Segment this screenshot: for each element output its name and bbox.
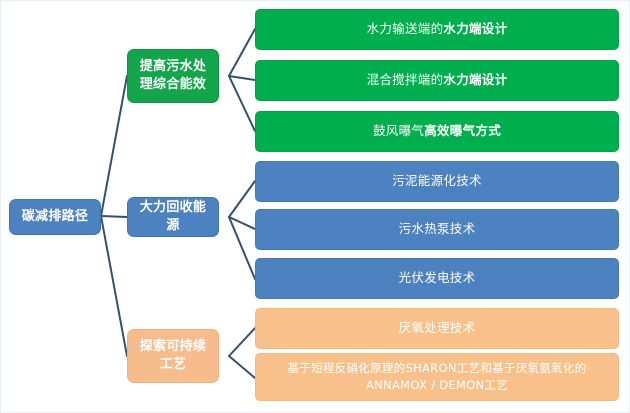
leaf-node-1-1[interactable]: 水力输送端的水力端设计 — [255, 9, 619, 50]
branch-node-3-label: 探索可持续工艺 — [134, 338, 212, 373]
edge-root-to-branch-2 — [101, 216, 127, 217]
leaf-node-3-1[interactable]: 厌氧处理技术 — [255, 308, 619, 349]
leaf-node-2-1[interactable]: 污泥能源化技术 — [255, 161, 619, 202]
leaf-node-2-1-label: 污泥能源化技术 — [262, 173, 612, 190]
edge-branch-1-to-leaf-1-1 — [229, 29, 255, 76]
branch-node-2[interactable]: 大力回收能源 — [127, 197, 219, 237]
edge-branch-2-to-leaf-2-2 — [229, 217, 255, 229]
leaf-node-1-2[interactable]: 混合搅拌端的水力端设计 — [255, 60, 619, 101]
edge-branch-3-to-leaf-3-2 — [229, 356, 255, 378]
leaf-node-1-1-label: 水力输送端的水力端设计 — [262, 21, 612, 38]
edge-branch-2-to-leaf-2-1 — [229, 181, 255, 217]
branch-node-2-label: 大力回收能源 — [134, 199, 212, 234]
leaf-node-1-3-label: 鼓风曝气高效曝气方式 — [262, 123, 612, 140]
edge-root-to-branch-1 — [101, 76, 127, 216]
edge-branch-2-to-leaf-2-3 — [229, 217, 255, 279]
leaf-node-2-3[interactable]: 光伏发电技术 — [255, 258, 619, 299]
leaf-node-2-2[interactable]: 污水热泵技术 — [255, 209, 619, 250]
leaf-node-2-2-label: 污水热泵技术 — [262, 221, 612, 238]
leaf-node-1-3[interactable]: 鼓风曝气高效曝气方式 — [255, 111, 619, 152]
edge-branch-1-to-leaf-1-2 — [229, 76, 255, 80]
branch-node-1-label: 提高污水处理综合能效 — [134, 58, 212, 93]
branch-node-3[interactable]: 探索可持续工艺 — [127, 329, 219, 383]
leaf-node-2-3-label: 光伏发电技术 — [262, 270, 612, 287]
root-node[interactable]: 碳减排路径 — [9, 199, 101, 235]
leaf-node-3-2[interactable]: 基于短程反硝化原理的SHARON工艺和基于厌氧氨氧化的ANNAMOX / DEM… — [255, 353, 619, 401]
edge-root-to-branch-3 — [101, 216, 127, 356]
leaf-node-3-1-label: 厌氧处理技术 — [262, 320, 612, 337]
edge-branch-3-to-leaf-3-1 — [229, 328, 255, 356]
branch-node-1[interactable]: 提高污水处理综合能效 — [127, 49, 219, 103]
edge-branch-1-to-leaf-1-3 — [229, 76, 255, 131]
root-node-label: 碳减排路径 — [16, 208, 94, 226]
leaf-node-3-2-label: 基于短程反硝化原理的SHARON工艺和基于厌氧氨氧化的ANNAMOX / DEM… — [262, 360, 612, 393]
leaf-node-1-2-label: 混合搅拌端的水力端设计 — [262, 72, 612, 89]
mind-map-canvas: 碳减排路径 提高污水处理综合能效 大力回收能源 探索可持续工艺 水力输送端的水力… — [0, 0, 630, 413]
